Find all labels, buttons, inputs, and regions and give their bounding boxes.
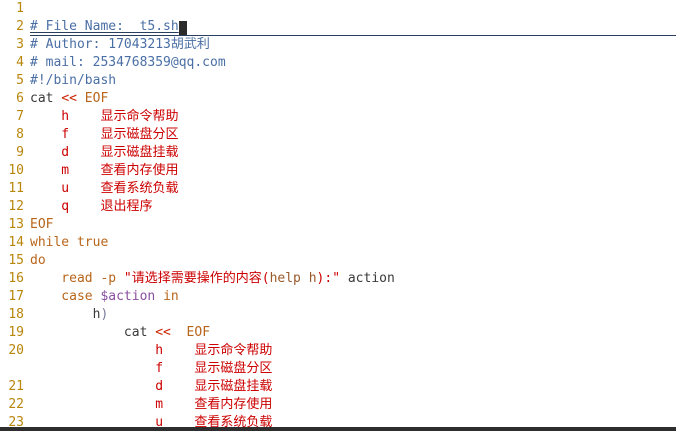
line-number: 8	[0, 126, 24, 144]
code-editor[interactable]: 12# File Name: t5.sh3# Author: 17043213胡…	[0, 0, 676, 431]
code-line[interactable]: 21 d 显示磁盘挂载	[0, 378, 676, 396]
code-lines-container[interactable]: 12# File Name: t5.sh3# Author: 17043213胡…	[0, 0, 676, 427]
code-token: "请选择需要操作的内容(	[124, 271, 270, 286]
code-token: <<	[61, 91, 77, 106]
text-cursor	[179, 21, 187, 36]
code-token	[77, 91, 85, 106]
code-token	[171, 325, 187, 340]
code-token: f 显示磁盘分区	[30, 127, 178, 142]
code-token: h 显示命令帮助	[30, 109, 178, 124]
line-number: 19	[0, 324, 24, 342]
code-line[interactable]: 19 cat << EOF	[0, 324, 676, 342]
code-token: #!/bin/bash	[30, 73, 116, 88]
line-number: 1	[0, 0, 24, 18]
code-line-text[interactable]: h 显示命令帮助	[30, 342, 272, 360]
code-line[interactable]: 16 read -p "请选择需要操作的内容(help h):" action	[0, 270, 676, 288]
code-token: h	[30, 307, 100, 322]
line-number: 16	[0, 270, 24, 288]
code-token: m 查看内存使用	[30, 163, 178, 178]
code-line[interactable]: 12 q 退出程序	[0, 198, 676, 216]
code-line[interactable]: 5#!/bin/bash	[0, 72, 676, 90]
line-number: 3	[0, 36, 24, 54]
line-number: 11	[0, 180, 24, 198]
code-line-text[interactable]: read -p "请选择需要操作的内容(help h):" action	[30, 270, 395, 288]
code-line[interactable]: 17 case $action in	[0, 288, 676, 306]
line-number: 13	[0, 216, 24, 234]
code-token: q 退出程序	[30, 199, 152, 214]
code-token: # Author: 17043213胡武利	[30, 37, 210, 52]
line-number: 12	[0, 198, 24, 216]
line-number: 4	[0, 54, 24, 72]
code-line-text[interactable]: do	[30, 252, 46, 270]
code-line[interactable]: 4# mail: 2534768359@qq.com	[0, 54, 676, 72]
code-token: do	[30, 253, 46, 268]
code-token: EOF	[30, 217, 53, 232]
code-line[interactable]: 20 h 显示命令帮助	[0, 342, 676, 360]
code-token: m 查看内存使用	[30, 397, 272, 412]
code-line-text[interactable]: m 查看内存使用	[30, 396, 272, 414]
code-line-text[interactable]: cat << EOF	[30, 90, 108, 108]
code-line[interactable]: f 显示磁盘分区	[0, 360, 676, 378]
code-line-text[interactable]: d 显示磁盘挂载	[30, 378, 272, 396]
code-line[interactable]: 14while true	[0, 234, 676, 252]
code-line[interactable]: 13EOF	[0, 216, 676, 234]
line-number: 7	[0, 108, 24, 126]
code-line[interactable]: 10 m 查看内存使用	[0, 162, 676, 180]
code-token: <<	[155, 325, 171, 340]
code-line-text[interactable]: #!/bin/bash	[30, 72, 116, 90]
line-number: 6	[0, 90, 24, 108]
line-number: 20	[0, 342, 24, 360]
line-number: 14	[0, 234, 24, 252]
line-number: 23	[0, 414, 24, 427]
code-token: $action	[100, 289, 155, 304]
code-line-text[interactable]: while true	[30, 234, 108, 252]
code-token: help h	[270, 271, 317, 286]
code-token: ):"	[317, 271, 340, 286]
code-line[interactable]: 6cat << EOF	[0, 90, 676, 108]
line-number: 21	[0, 378, 24, 396]
code-token: EOF	[85, 91, 108, 106]
code-line-text[interactable]: # Author: 17043213胡武利	[30, 36, 210, 54]
line-number: 5	[0, 72, 24, 90]
code-line[interactable]: 18 h)	[0, 306, 676, 324]
line-number: 2	[0, 18, 24, 36]
code-line[interactable]: 23 u 查看系统负载	[0, 414, 676, 427]
code-line-text[interactable]: f 显示磁盘分区	[30, 360, 272, 378]
code-line-text[interactable]: # mail: 2534768359@qq.com	[30, 54, 226, 72]
code-line-text[interactable]: h)	[30, 306, 108, 324]
code-line-text[interactable]: # File Name: t5.sh	[30, 18, 179, 36]
code-line[interactable]: 15do	[0, 252, 676, 270]
code-line[interactable]: 9 d 显示磁盘挂载	[0, 144, 676, 162]
code-line-text[interactable]: u 查看系统负载	[30, 180, 178, 198]
code-line-text[interactable]: u 查看系统负载	[30, 414, 272, 427]
code-line[interactable]: 1	[0, 0, 676, 18]
code-line[interactable]: 2# File Name: t5.sh	[0, 18, 676, 36]
code-token: d 显示磁盘挂载	[30, 379, 272, 394]
code-line[interactable]: 3# Author: 17043213胡武利	[0, 36, 676, 54]
code-line-text[interactable]: cat << EOF	[30, 324, 210, 342]
code-token: # mail: 2534768359@qq.com	[30, 55, 226, 70]
code-token: cat	[30, 325, 155, 340]
code-token: u 查看系统负载	[30, 415, 272, 427]
code-line-text[interactable]: h 显示命令帮助	[30, 108, 178, 126]
code-line-text[interactable]: m 查看内存使用	[30, 162, 178, 180]
code-token: case	[30, 289, 100, 304]
code-line-text[interactable]: f 显示磁盘分区	[30, 126, 178, 144]
line-number: 15	[0, 252, 24, 270]
line-number: 9	[0, 144, 24, 162]
editor-status-bar	[0, 427, 676, 431]
code-line-text[interactable]: d 显示磁盘挂载	[30, 144, 178, 162]
code-token: read -p	[30, 271, 124, 286]
line-number: 10	[0, 162, 24, 180]
code-line[interactable]: 8 f 显示磁盘分区	[0, 126, 676, 144]
code-token: u 查看系统负载	[30, 181, 178, 196]
code-line[interactable]: 11 u 查看系统负载	[0, 180, 676, 198]
code-token: d 显示磁盘挂载	[30, 145, 178, 160]
code-line-text[interactable]: q 退出程序	[30, 198, 152, 216]
code-line[interactable]: 7 h 显示命令帮助	[0, 108, 676, 126]
code-token: )	[100, 307, 108, 322]
code-line-text[interactable]: case $action in	[30, 288, 179, 306]
line-number: 17	[0, 288, 24, 306]
code-token: EOF	[187, 325, 210, 340]
code-token: while true	[30, 235, 108, 250]
code-token: action	[340, 271, 395, 286]
line-number: 18	[0, 306, 24, 324]
code-token: f 显示磁盘分区	[30, 361, 272, 376]
code-token: # File Name: t5.sh	[30, 19, 179, 34]
code-token: cat	[30, 91, 61, 106]
code-line-text[interactable]: EOF	[30, 216, 53, 234]
code-line[interactable]: 22 m 查看内存使用	[0, 396, 676, 414]
line-number: 22	[0, 396, 24, 414]
code-token: in	[155, 289, 178, 304]
code-token: h 显示命令帮助	[30, 343, 272, 358]
